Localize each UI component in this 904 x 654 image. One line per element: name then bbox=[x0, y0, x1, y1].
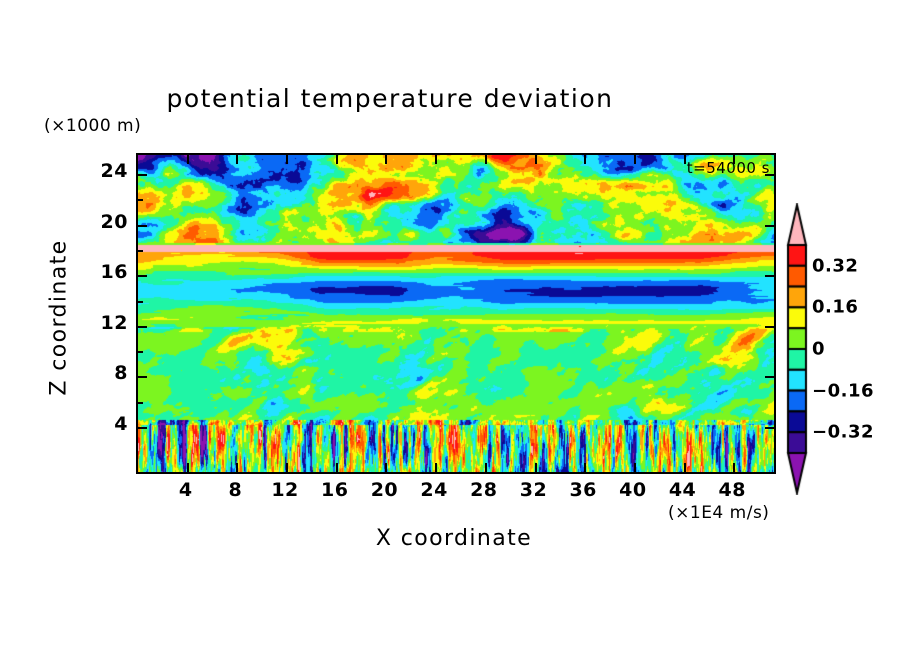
x-tick-label: 8 bbox=[213, 479, 257, 501]
y-minor-tick bbox=[138, 351, 143, 353]
x-axis-unit-label: (×1E4 m/s) bbox=[668, 503, 769, 523]
colorbar-label: 0.16 bbox=[812, 297, 858, 318]
x-tick-mark bbox=[584, 155, 586, 164]
y-tick-label: 4 bbox=[88, 413, 128, 435]
y-tick-label: 20 bbox=[88, 211, 128, 233]
page-title: potential temperature deviation bbox=[0, 84, 780, 113]
y-minor-tick bbox=[138, 199, 143, 201]
x-tick-mark bbox=[733, 463, 735, 472]
colorbar-tick-labels: 0.320.160−0.16−0.32 bbox=[812, 203, 892, 495]
colorbar-label: 0 bbox=[812, 339, 825, 360]
y-tick-label: 16 bbox=[88, 261, 128, 283]
x-tick-label: 44 bbox=[661, 479, 705, 501]
x-tick-mark bbox=[535, 155, 537, 164]
x-tick-mark bbox=[286, 155, 288, 164]
colorbar bbox=[783, 203, 811, 495]
x-tick-label: 40 bbox=[611, 479, 655, 501]
y-axis-tick-labels: 4812162024 bbox=[84, 153, 128, 470]
x-tick-mark bbox=[385, 155, 387, 164]
y-tick-mark bbox=[138, 174, 147, 176]
y-minor-tick bbox=[138, 250, 143, 252]
y-tick-mark bbox=[138, 427, 147, 429]
x-tick-label: 36 bbox=[561, 479, 605, 501]
x-axis-title: X coordinate bbox=[136, 526, 772, 551]
x-tick-mark bbox=[485, 463, 487, 472]
x-tick-mark bbox=[236, 155, 238, 164]
x-tick-mark bbox=[535, 463, 537, 472]
x-tick-label: 16 bbox=[313, 479, 357, 501]
x-tick-mark bbox=[336, 155, 338, 164]
x-tick-mark bbox=[187, 463, 189, 472]
x-tick-mark bbox=[336, 463, 338, 472]
x-tick-label: 24 bbox=[412, 479, 456, 501]
contour-plot-area: t=54000 s bbox=[136, 153, 776, 474]
y-tick-label: 24 bbox=[88, 160, 128, 182]
x-axis-tick-labels: 4812162024283236404448 bbox=[136, 479, 772, 505]
x-tick-label: 4 bbox=[164, 479, 208, 501]
x-tick-label: 12 bbox=[263, 479, 307, 501]
y-tick-mark bbox=[765, 225, 774, 227]
y-tick-mark bbox=[765, 326, 774, 328]
x-tick-label: 20 bbox=[362, 479, 406, 501]
x-tick-mark bbox=[385, 463, 387, 472]
y-tick-label: 12 bbox=[88, 312, 128, 334]
x-tick-label: 32 bbox=[512, 479, 556, 501]
y-tick-mark bbox=[138, 376, 147, 378]
y-minor-tick bbox=[138, 402, 143, 404]
colorbar-label: 0.32 bbox=[812, 255, 858, 276]
y-axis-title: Z coordinate bbox=[47, 228, 72, 408]
x-tick-mark bbox=[236, 463, 238, 472]
time-annotation: t=54000 s bbox=[687, 159, 770, 177]
x-tick-mark bbox=[684, 155, 686, 164]
x-tick-mark bbox=[435, 155, 437, 164]
x-tick-label: 48 bbox=[710, 479, 754, 501]
x-tick-mark bbox=[286, 463, 288, 472]
x-tick-mark bbox=[485, 155, 487, 164]
y-tick-mark bbox=[138, 326, 147, 328]
y-tick-mark bbox=[765, 275, 774, 277]
y-axis-unit-label: (×1000 m) bbox=[44, 116, 141, 136]
x-tick-label: 28 bbox=[462, 479, 506, 501]
y-tick-mark bbox=[765, 427, 774, 429]
y-tick-mark bbox=[138, 225, 147, 227]
colorbar-canvas bbox=[783, 203, 811, 495]
x-tick-mark bbox=[435, 463, 437, 472]
y-tick-mark bbox=[138, 275, 147, 277]
contour-field-canvas bbox=[138, 155, 774, 472]
x-tick-mark bbox=[187, 155, 189, 164]
y-tick-mark bbox=[765, 376, 774, 378]
y-minor-tick bbox=[138, 301, 143, 303]
x-tick-mark bbox=[634, 155, 636, 164]
x-tick-mark bbox=[634, 463, 636, 472]
x-tick-mark bbox=[584, 463, 586, 472]
y-tick-label: 8 bbox=[88, 362, 128, 384]
colorbar-label: −0.32 bbox=[812, 422, 874, 443]
colorbar-label: −0.16 bbox=[812, 380, 874, 401]
x-tick-mark bbox=[684, 463, 686, 472]
